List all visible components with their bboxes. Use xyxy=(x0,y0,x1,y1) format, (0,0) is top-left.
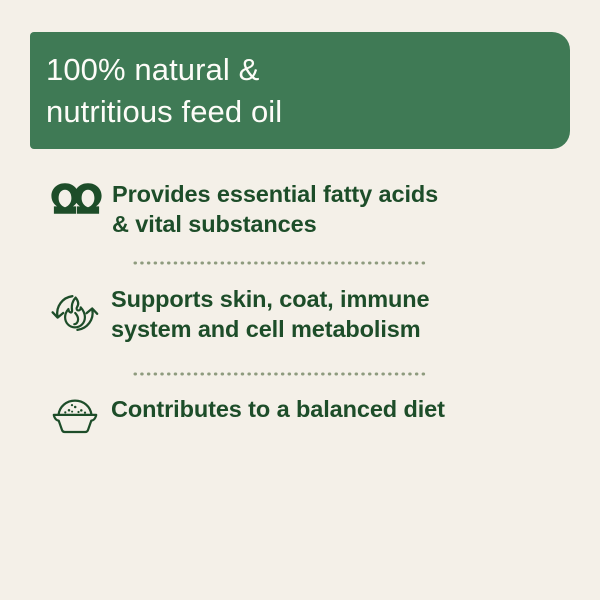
spacer xyxy=(0,344,600,366)
food-bowl-icon xyxy=(47,395,103,439)
feature-item-fatty-acids: 3 6 Provides essential fatty acids & vit… xyxy=(0,178,600,239)
feature-icon-wrap xyxy=(47,393,111,439)
omega-3-label: 3 xyxy=(59,189,67,206)
divider-2 xyxy=(133,366,429,376)
header-banner: 100% natural & nutritious feed oil xyxy=(30,32,570,149)
flame-metabolism-icon xyxy=(47,285,103,341)
feature-item-balanced-diet: Contributes to a balanced diet xyxy=(0,393,600,439)
feature-text-balanced-diet: Contributes to a balanced diet xyxy=(111,393,445,424)
omega-6-label: 6 xyxy=(84,189,92,206)
product-benefits-poster: 100% natural & nutritious feed oil 3 6 P… xyxy=(0,0,600,600)
feature-list: 3 6 Provides essential fatty acids & vit… xyxy=(0,178,600,439)
page-title: 100% natural & nutritious feed oil xyxy=(30,49,282,131)
divider-1 xyxy=(133,255,429,265)
feature-text-fatty-acids: Provides essential fatty acids & vital s… xyxy=(112,178,438,239)
feature-icon-wrap xyxy=(47,283,111,341)
omega-3-6-icon: 3 6 xyxy=(48,180,104,228)
feature-icon-wrap: 3 6 xyxy=(48,178,112,228)
spacer xyxy=(0,239,600,255)
feature-text-metabolism: Supports skin, coat, immune system and c… xyxy=(111,283,430,344)
feature-item-metabolism: Supports skin, coat, immune system and c… xyxy=(0,283,600,344)
